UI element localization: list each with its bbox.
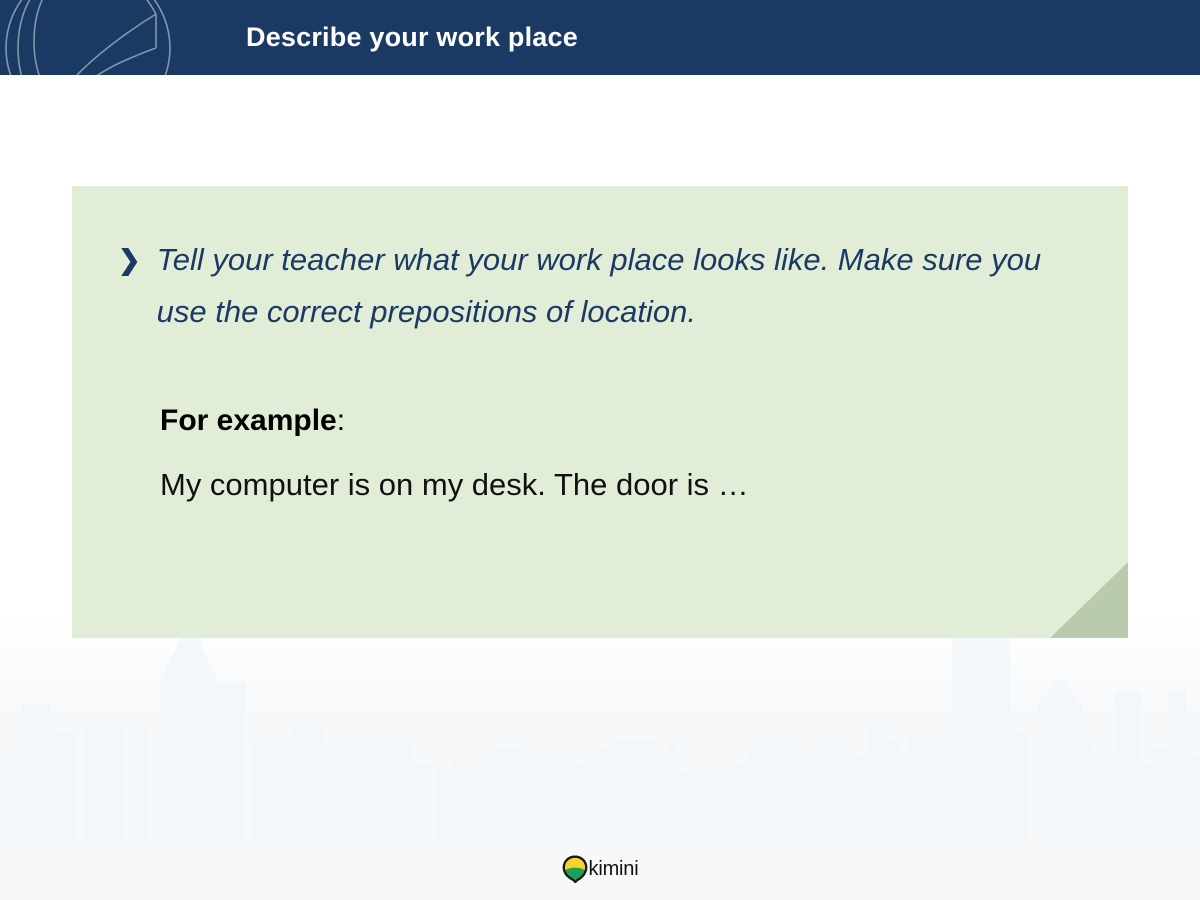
example-label-colon: : xyxy=(337,404,345,437)
slide-footer: kimini xyxy=(0,838,1200,900)
instruction-bullet-row: ❯ Tell your teacher what your work place… xyxy=(116,234,1084,338)
instruction-text: Tell your teacher what your work place l… xyxy=(157,234,1084,338)
example-label-strong: For example xyxy=(160,404,337,437)
brand-lockup: kimini xyxy=(562,855,639,883)
instruction-card: ❯ Tell your teacher what your work place… xyxy=(72,186,1128,638)
slide-canvas: Describe your work place ❯ Tell your tea… xyxy=(0,0,1200,900)
kimini-balloon-logo-icon xyxy=(562,855,588,883)
example-sentence: My computer is on my desk. The door is … xyxy=(160,462,1084,508)
brand-name: kimini xyxy=(589,859,639,879)
kimini-g-monogram-icon xyxy=(0,0,188,75)
example-label: For example: xyxy=(160,398,1084,444)
chevron-right-bullet-icon: ❯ xyxy=(118,234,141,286)
slide-header: Describe your work place xyxy=(0,0,1200,75)
card-content: ❯ Tell your teacher what your work place… xyxy=(72,186,1128,638)
page-title: Describe your work place xyxy=(246,0,578,75)
city-skyline-silhouette-icon xyxy=(0,612,1200,842)
example-block: For example: My computer is on my desk. … xyxy=(160,398,1084,508)
